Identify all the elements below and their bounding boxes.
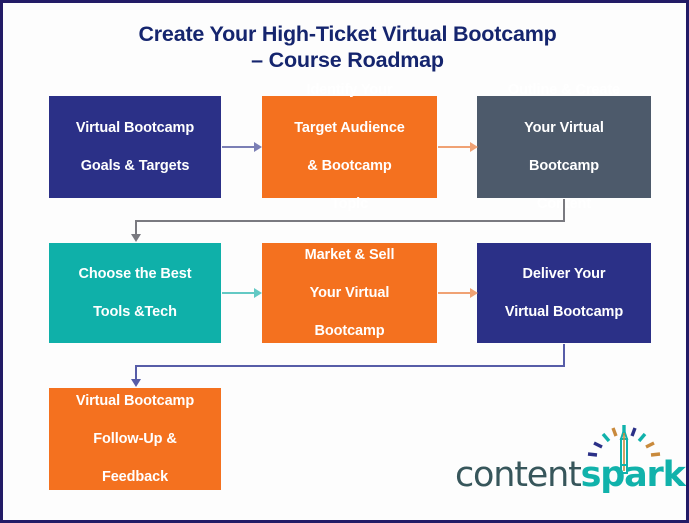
logo-word-content: content — [455, 455, 581, 495]
connector-step2-step3-line — [438, 146, 471, 148]
flow-node-step-6-label: Deliver Your Virtual Bootcamp — [483, 265, 645, 322]
connector-step5-step6-line — [438, 292, 471, 294]
connector-step1-step2-line — [222, 146, 255, 148]
flow-node-step-7[interactable]: Virtual Bootcamp Follow-Up & Feedback — [49, 388, 221, 490]
flow-node-step-4[interactable]: Choose the Best Tools &Tech — [49, 243, 221, 343]
connector-step2-step3-arrowhead — [470, 142, 478, 152]
title-line-2: – Course Roadmap — [3, 47, 689, 73]
flow-node-step-5-label: Market & Sell Your Virtual Bootcamp — [268, 246, 431, 341]
flow-node-step-4-label: Choose the Best Tools &Tech — [55, 265, 215, 322]
connector-step3-step4-seg-across — [135, 220, 565, 222]
connector-step3-step4-arrowhead — [131, 234, 141, 242]
flow-node-step-2-label: Identify Your Target Audience & Bootcamp… — [268, 81, 431, 214]
flow-node-step-2[interactable]: Identify Your Target Audience & Bootcamp… — [262, 96, 437, 198]
flow-node-step-3-label: Outline & Create Your Virtual Bootcamp C… — [483, 81, 645, 214]
flow-node-step-1[interactable]: Virtual Bootcamp Goals & Targets — [49, 96, 221, 198]
connector-step3-step4-seg-into — [135, 220, 137, 235]
connector-step6-step7-seg-across — [135, 365, 565, 367]
logo-wordmark: contentsparks — [455, 455, 689, 495]
flow-node-step-3[interactable]: Outline & Create Your Virtual Bootcamp C… — [477, 96, 651, 198]
flow-node-step-6[interactable]: Deliver Your Virtual Bootcamp — [477, 243, 651, 343]
connector-step1-step2-arrowhead — [254, 142, 262, 152]
connector-step3-step4-seg-down — [563, 199, 565, 222]
title-line-1: Create Your High-Ticket Virtual Bootcamp — [138, 22, 556, 46]
connector-step6-step7-seg-down — [563, 344, 565, 367]
flow-node-step-5[interactable]: Market & Sell Your Virtual Bootcamp — [262, 243, 437, 343]
page-title: Create Your High-Ticket Virtual Bootcamp… — [3, 21, 689, 73]
logo-word-sparks: sparks — [581, 455, 689, 495]
roadmap-canvas: Create Your High-Ticket Virtual Bootcamp… — [0, 0, 689, 523]
connector-step4-step5-line — [222, 292, 255, 294]
connector-step4-step5-arrowhead — [254, 288, 262, 298]
flow-node-step-1-label: Virtual Bootcamp Goals & Targets — [55, 119, 215, 176]
connector-step5-step6-arrowhead — [470, 288, 478, 298]
connector-step6-step7-seg-into — [135, 365, 137, 380]
contentsparks-logo: contentsparks — [455, 427, 665, 497]
connector-step6-step7-arrowhead — [131, 379, 141, 387]
flow-node-step-7-label: Virtual Bootcamp Follow-Up & Feedback — [55, 392, 215, 487]
